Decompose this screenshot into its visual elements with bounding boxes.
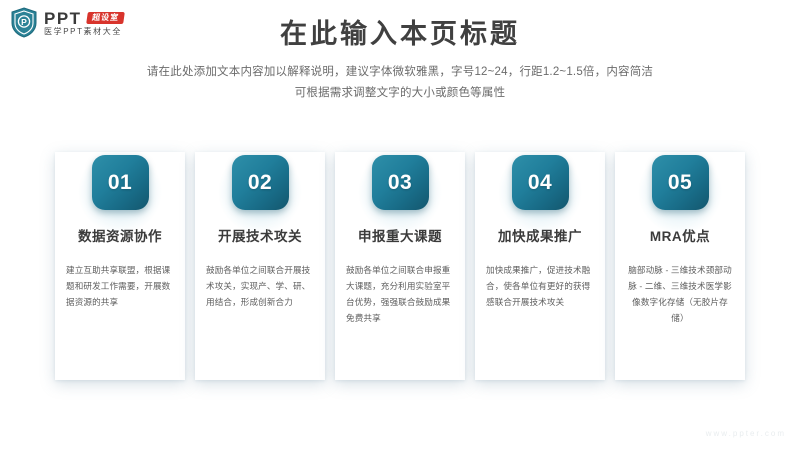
- number-tile: 01: [92, 155, 149, 210]
- number-tile: 03: [372, 155, 429, 210]
- info-card[interactable]: 05 MRA优点 脑部动脉 - 三维技术颈部动脉 - 二维、三维技术医学影像数字…: [615, 152, 745, 380]
- info-card[interactable]: 02 开展技术攻关 鼓励各单位之间联合开展技术攻关，实现产、学、研、用结合，形成…: [195, 152, 325, 380]
- card-body: 脑部动脉 - 三维技术颈部动脉 - 二维、三维技术医学影像数字化存储（无胶片存储…: [626, 263, 734, 327]
- info-card[interactable]: 01 数据资源协作 建立互助共享联盟，根据课题和研发工作需要，开展数据资源的共享: [55, 152, 185, 380]
- card-title: MRA优点: [650, 229, 710, 245]
- card-row: 01 数据资源协作 建立互助共享联盟，根据课题和研发工作需要，开展数据资源的共享…: [55, 152, 745, 380]
- card-title: 数据资源协作: [78, 229, 162, 245]
- subtitle-line-1: 请在此处添加文本内容加以解释说明，建议字体微软雅黑，字号12~24，行距1.2~…: [60, 62, 740, 83]
- page-subtitle: 请在此处添加文本内容加以解释说明，建议字体微软雅黑，字号12~24，行距1.2~…: [60, 62, 740, 105]
- info-card[interactable]: 03 申报重大课题 鼓励各单位之间联合申报重大课题，充分利用实验室平台优势，强强…: [335, 152, 465, 380]
- number-tile: 05: [652, 155, 709, 210]
- card-title: 加快成果推广: [498, 229, 582, 245]
- tile-number: 01: [108, 171, 132, 195]
- card-body: 建立互助共享联盟，根据课题和研发工作需要，开展数据资源的共享: [66, 263, 174, 311]
- number-tile: 04: [512, 155, 569, 210]
- tile-number: 04: [528, 171, 552, 195]
- tile-number: 05: [668, 171, 692, 195]
- slide-canvas: P PPT 超设室 医学PPT素材大全 在此输入本页标题 请在此处添加文本内容加…: [0, 0, 800, 450]
- site-watermark: www.ppter.com: [706, 429, 786, 438]
- tile-number: 03: [388, 171, 412, 195]
- info-card[interactable]: 04 加快成果推广 加快成果推广，促进技术融合，使各单位有更好的获得感联合开展技…: [475, 152, 605, 380]
- card-body: 加快成果推广，促进技术融合，使各单位有更好的获得感联合开展技术攻关: [486, 263, 594, 311]
- tile-number: 02: [248, 171, 272, 195]
- number-tile: 02: [232, 155, 289, 210]
- page-title: 在此输入本页标题: [0, 18, 800, 52]
- subtitle-line-2: 可根据需求调整文字的大小或颜色等属性: [60, 83, 740, 104]
- card-title: 开展技术攻关: [218, 229, 302, 245]
- card-body: 鼓励各单位之间联合申报重大课题，充分利用实验室平台优势，强强联合鼓励成果免费共享: [346, 263, 454, 327]
- card-body: 鼓励各单位之间联合开展技术攻关，实现产、学、研、用结合，形成创新合力: [206, 263, 314, 311]
- card-title: 申报重大课题: [358, 229, 442, 245]
